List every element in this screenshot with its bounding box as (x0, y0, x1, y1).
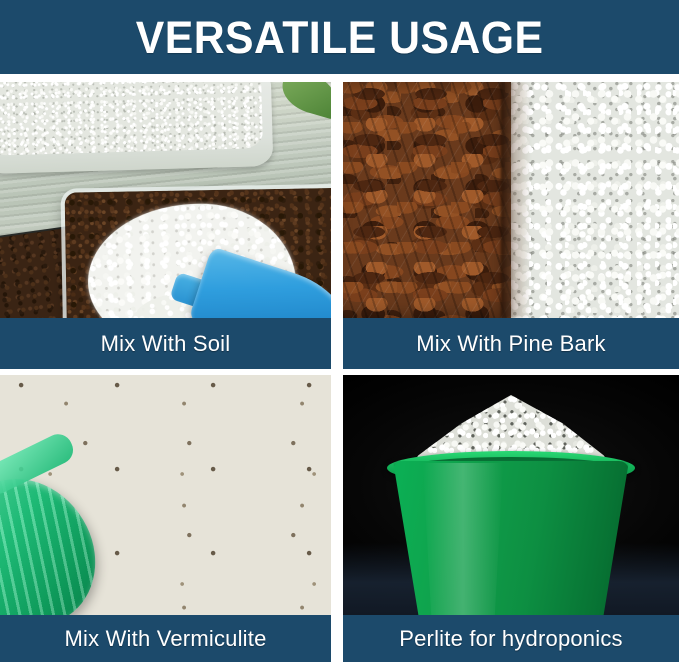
caption-label: Perlite for hydroponics (399, 626, 622, 652)
usage-grid: Mix With Soil Mix With Pine Bark (0, 74, 679, 669)
panel-perlite-for-hydroponics: Perlite for hydroponics (343, 375, 679, 662)
photo-mix-with-soil (0, 82, 331, 318)
header-banner: VERSATILE USAGE (0, 0, 679, 74)
caption-label: Mix With Vermiculite (64, 626, 266, 652)
upper-tray-perlite (0, 82, 263, 156)
photo-mix-with-vermiculite (0, 375, 331, 615)
caption-label: Mix With Pine Bark (416, 331, 605, 357)
panel-mix-with-vermiculite: Mix With Vermiculite (0, 375, 331, 662)
photo-perlite-for-hydroponics (343, 375, 679, 615)
bark-strand-texture (343, 82, 518, 318)
caption-bar-perlite-for-hydroponics: Perlite for hydroponics (343, 615, 679, 662)
caption-bar-mix-with-soil: Mix With Soil (0, 318, 331, 369)
perlite-granules (511, 82, 679, 318)
caption-bar-mix-with-pine-bark: Mix With Pine Bark (343, 318, 679, 369)
versatile-usage-infographic: VERSATILE USAGE Mix With Soil (0, 0, 679, 669)
pot-highlight (423, 463, 503, 615)
caption-bar-mix-with-vermiculite: Mix With Vermiculite (0, 615, 331, 662)
panel-mix-with-pine-bark: Mix With Pine Bark (343, 82, 679, 369)
photo-mix-with-pine-bark (343, 82, 679, 318)
caption-label: Mix With Soil (101, 331, 231, 357)
bark-perlite-seam (501, 82, 531, 318)
page-title: VERSATILE USAGE (136, 15, 544, 60)
panel-mix-with-soil: Mix With Soil (0, 82, 331, 369)
